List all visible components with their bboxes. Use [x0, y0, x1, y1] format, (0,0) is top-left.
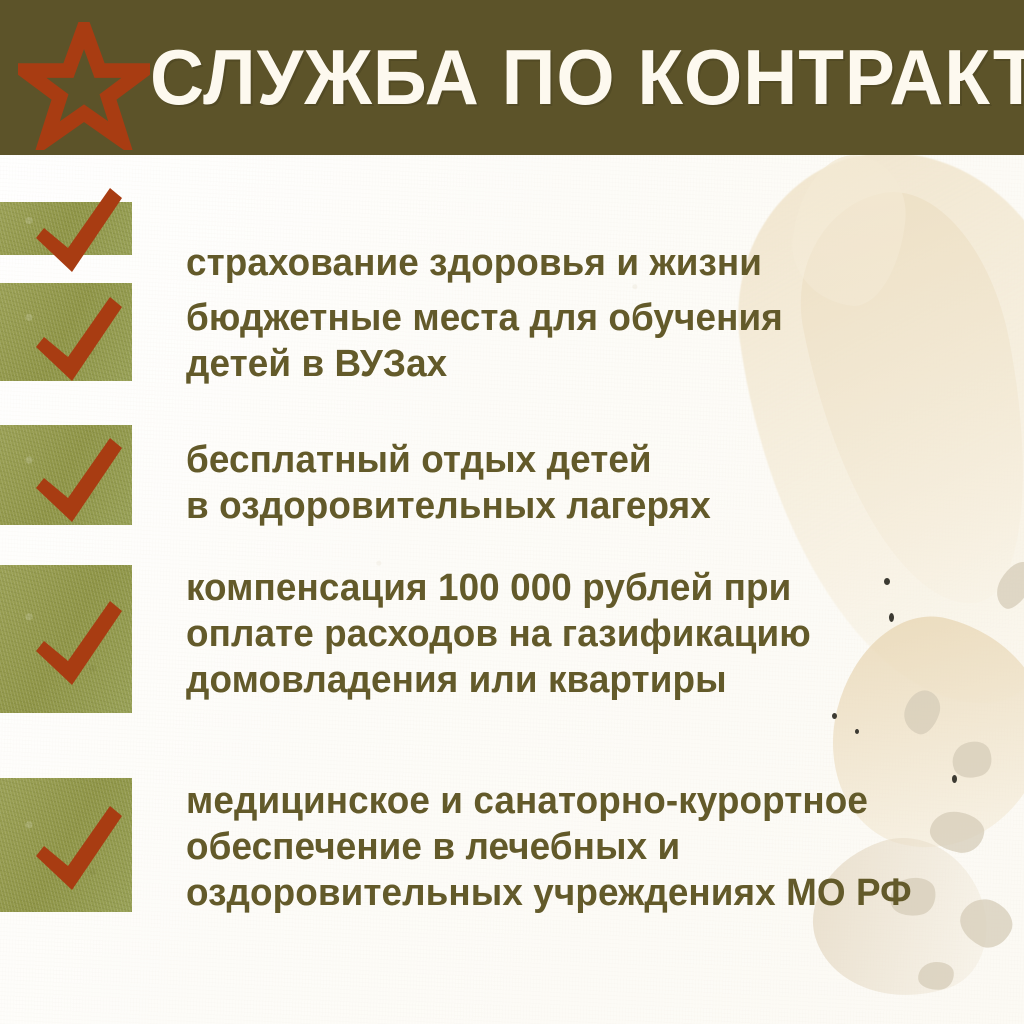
check-mark-icon — [24, 800, 132, 904]
header-banner: СЛУЖБА ПО КОНТРАКТУ — [0, 0, 1024, 155]
check-mark-icon — [24, 595, 132, 699]
check-mark-icon — [24, 182, 132, 286]
poster-canvas: СЛУЖБА ПО КОНТРАКТУ страхование здоровья… — [0, 0, 1024, 1024]
check-mark-icon — [24, 291, 132, 395]
list-item-label: бюджетные места для обучения детей в ВУЗ… — [186, 295, 783, 387]
list-item-label: компенсация 100 000 рублей при оплате ра… — [186, 565, 811, 703]
benefits-list: страхование здоровья и жизни бюджетные м… — [0, 155, 1024, 1024]
list-item-label: бесплатный отдых детей в оздоровительных… — [186, 437, 711, 529]
five-pointed-star-outline-icon — [18, 22, 150, 150]
check-mark-icon — [24, 432, 132, 536]
list-item-label: медицинское и санаторно-курортное обеспе… — [186, 778, 912, 916]
page-title: СЛУЖБА ПО КОНТРАКТУ — [150, 0, 1024, 155]
list-item-label: страхование здоровья и жизни — [186, 240, 762, 286]
